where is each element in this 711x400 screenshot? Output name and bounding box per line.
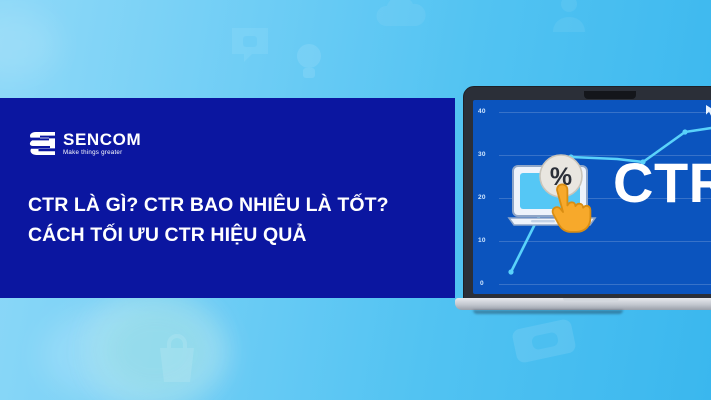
laptop-lid: 40 30 20 10 0 [463, 86, 711, 301]
headline-line-2: CÁCH TỐI ƯU CTR HIỆU QUẢ [28, 220, 428, 250]
banner-stage: SENCOM Make things greater CTR LÀ GÌ? CT… [0, 0, 711, 400]
sencom-s-logo-icon [28, 130, 58, 157]
laptop-base-notch [563, 298, 619, 302]
brand-logo-text: SENCOM Make things greater [63, 131, 141, 156]
mini-laptop-group: % [509, 160, 595, 232]
brand-name: SENCOM [63, 131, 141, 148]
brand-tagline: Make things greater [63, 150, 141, 156]
brand-logo[interactable]: SENCOM Make things greater [28, 130, 141, 157]
laptop-illustration: 40 30 20 10 0 [455, 86, 711, 326]
screen-ctr-label: CTR [613, 155, 711, 211]
mouse-pointer-icon [706, 104, 711, 122]
laptop-camera-notch [584, 91, 636, 99]
headline-line-1: CTR LÀ GÌ? CTR BAO NHIÊU LÀ TỐT? [28, 194, 389, 216]
laptop-base-shadow [473, 310, 623, 314]
laptop-screen: 40 30 20 10 0 [473, 100, 711, 294]
laptop-base [455, 298, 711, 310]
page-title: CTR LÀ GÌ? CTR BAO NHIÊU LÀ TỐT? CÁCH TỐ… [28, 190, 428, 250]
